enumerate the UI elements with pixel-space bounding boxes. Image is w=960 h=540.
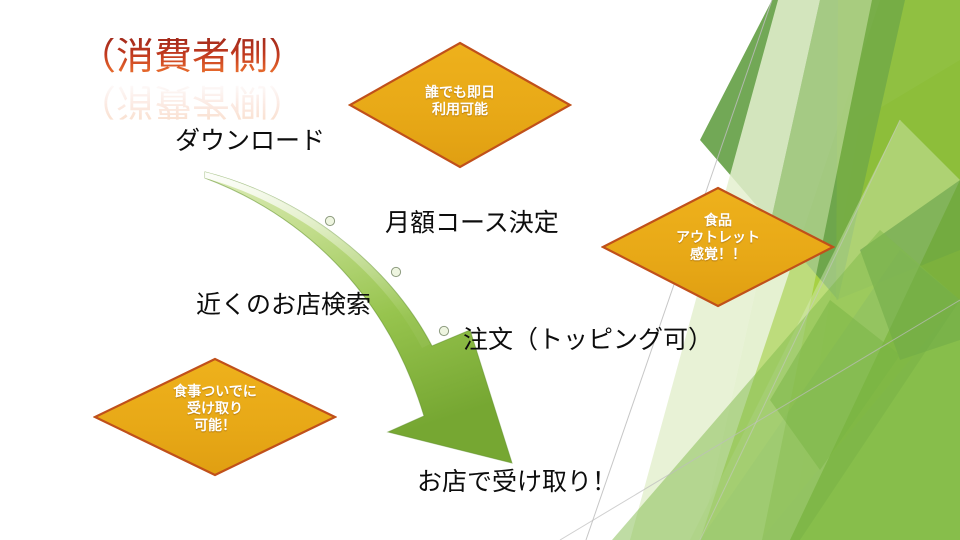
callout-diamond-pickup-with-meal: 食事ついでに 受け取り 可能！ (93, 357, 337, 477)
arrow-waypoint-dot (439, 326, 448, 335)
flow-step-shop-search: 近くのお店検索 (196, 285, 371, 321)
bg-polygon-accent-2 (770, 300, 900, 470)
bg-polygon-dark-accent (860, 180, 960, 360)
bg-polygon-mid-lower (760, 300, 960, 540)
flow-step-download: ダウンロード (175, 121, 325, 157)
diamond-shape (601, 186, 835, 308)
flow-step-monthly-course: 月額コース決定 (385, 203, 559, 239)
arrow-waypoint-dot (391, 267, 400, 276)
page-title-reflection: （消費者側） (78, 80, 306, 120)
page-title: （消費者側） (78, 38, 306, 78)
bg-polygon-dark-wedge-2 (836, 0, 960, 300)
callout-diamond-instant-use: 誰でも即日 利用可能 (348, 41, 572, 169)
flow-step-order: 注文（トッピング可） (463, 320, 713, 356)
presentation-slide: （消費者側） （消費者側） ダウンロード 月額コース決定 近くのお店検索 注文（… (0, 0, 960, 540)
arrow-highlight (205, 172, 430, 348)
bg-hairline-3 (700, 120, 900, 540)
flow-step-pickup: お店で受け取り！ (417, 462, 617, 498)
bg-polygon-pale-sheet-3 (690, 120, 960, 540)
callout-diamond-food-outlet: 食品 アウトレット 感覚！！ (601, 186, 835, 308)
diamond-shape (93, 357, 337, 477)
diamond-shape (348, 41, 572, 169)
arrow-waypoint-dot (325, 216, 334, 225)
